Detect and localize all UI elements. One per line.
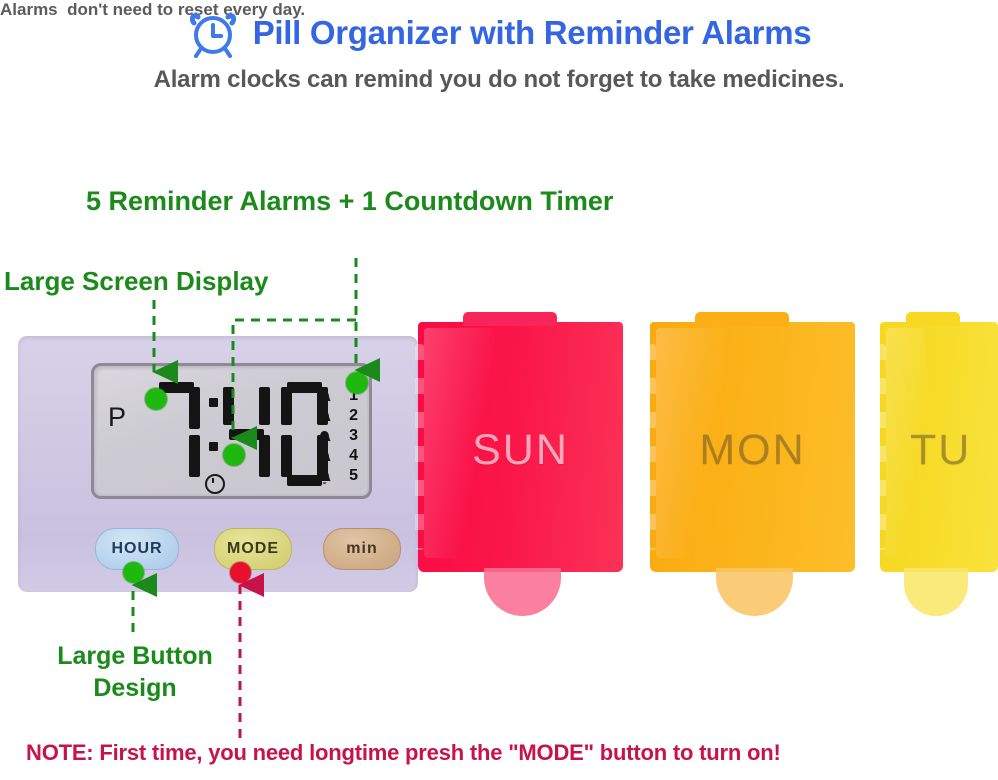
alarm-indicator-row: 5 (314, 468, 358, 488)
alarm-indicator-number: 2 (349, 407, 358, 425)
compartment-tue[interactable]: TU (880, 322, 998, 572)
callout-buttons-label: Large Button Design (55, 640, 215, 704)
note-text: NOTE: First time, you need longtime pres… (26, 740, 781, 766)
compartment-tab (906, 312, 960, 326)
compartment-mon[interactable]: MON (650, 322, 855, 572)
callout-screen-label: Large Screen Display (4, 266, 268, 297)
bell-icon (316, 410, 333, 426)
compartment-foot (716, 568, 794, 616)
bell-icon (316, 390, 333, 406)
alarm-indicator-number: 3 (349, 427, 358, 445)
callout-buttons-line2: Design (55, 672, 215, 704)
compartment-day-label: TU (880, 426, 998, 475)
lcd-alarm-indicators: 1 2 3 4 5 (314, 388, 358, 492)
pill-compartments: SUN MON TU (418, 322, 998, 622)
lcd-colon (209, 398, 218, 470)
callout-buttons-line1: Large Button (55, 640, 215, 672)
compartment-sun[interactable]: SUN (418, 322, 623, 572)
marker-dot-alarms (346, 372, 368, 394)
countdown-timer-icon (205, 474, 225, 494)
alarm-indicator-row: 3 (314, 428, 358, 448)
compartment-tab (463, 312, 557, 326)
marker-dot-hour-button (123, 562, 144, 583)
mode-button[interactable]: MODE (214, 528, 292, 570)
lcd-digits (153, 382, 328, 488)
compartment-day-label: SUN (418, 426, 623, 475)
lcd-digit-2 (223, 382, 270, 486)
alarm-indicator-row: 2 (314, 408, 358, 428)
callout-alarms-label: 5 Reminder Alarms + 1 Countdown Timer (86, 186, 613, 217)
min-button[interactable]: min (323, 528, 401, 570)
marker-dot-mode-button (230, 562, 251, 583)
compartment-day-label: MON (650, 426, 855, 475)
lcd-mode-indicator: P (108, 402, 126, 433)
alarm-indicator-row: 4 (314, 448, 358, 468)
lcd-screen: P (91, 363, 372, 499)
marker-dot-timer (223, 444, 245, 466)
compartment-tab (695, 312, 789, 326)
product-infographic: Pill Organizer with Reminder Alarms Alar… (0, 0, 998, 780)
marker-dot-screen (145, 388, 167, 410)
alarm-indicator-number: 4 (349, 447, 358, 465)
page-subtitle: Alarm clocks can remind you do not forge… (0, 66, 998, 94)
alarm-clock-icon (187, 8, 239, 58)
bell-icon (316, 470, 333, 486)
alarm-indicator-number: 5 (349, 467, 358, 485)
compartment-foot (484, 568, 562, 616)
bell-icon (316, 430, 333, 446)
bell-icon (316, 450, 333, 466)
page-title: Pill Organizer with Reminder Alarms (253, 14, 812, 52)
compartment-foot (904, 568, 969, 616)
lcd-surface: P (98, 370, 365, 492)
header: Pill Organizer with Reminder Alarms (0, 6, 998, 60)
